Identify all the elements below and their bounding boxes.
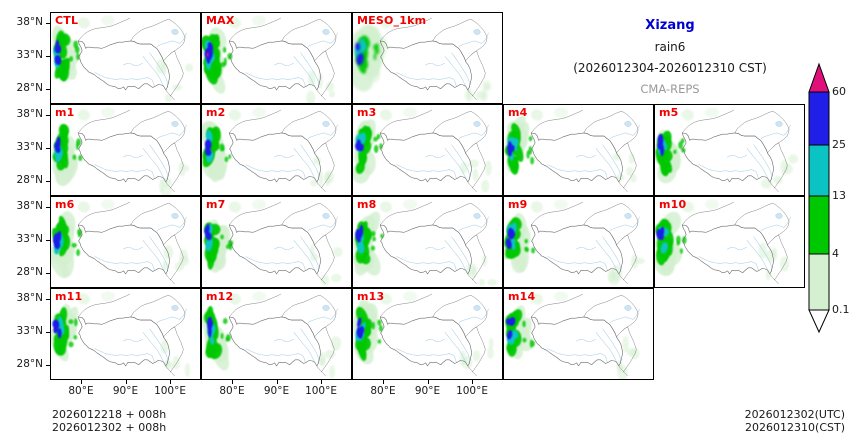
title-variable: rain6 [530, 40, 810, 54]
y-tick-label: 33°N [0, 325, 43, 337]
map-panel-m7[interactable]: m7 [201, 196, 352, 288]
x-tick-label: 100°E [291, 385, 351, 397]
y-tick-mark [46, 207, 50, 208]
map-panel-ctl[interactable]: CTL [50, 12, 201, 104]
panel-label-m11: m11 [55, 290, 82, 303]
map-panel-m12[interactable]: m12 [201, 288, 352, 380]
footer-right-line1: 2026012302(UTC) [600, 408, 845, 421]
y-tick-mark [46, 240, 50, 241]
map-panel-m14[interactable]: m14 [503, 288, 654, 380]
x-tick-label: 100°E [140, 385, 200, 397]
map-panel-m5[interactable]: m5 [654, 104, 805, 196]
footer-left-line1: 2026012218 + 008h [52, 408, 166, 421]
y-tick-label: 33°N [0, 49, 43, 61]
panel-label-m9: m9 [508, 198, 528, 211]
x-tick-mark [232, 380, 233, 384]
y-tick-mark [46, 365, 50, 366]
panel-label-m8: m8 [357, 198, 377, 211]
x-tick-mark [321, 380, 322, 384]
map-panel-max[interactable]: MAX [201, 12, 352, 104]
y-tick-label: 38°N [0, 108, 43, 120]
footer-left-line2: 2026012302 + 008h [52, 421, 166, 434]
y-tick-mark [46, 89, 50, 90]
colorbar-band-0.1-4 [809, 254, 829, 310]
figure-root: CTLMAXMESO_1kmm1m2m3m4m5m6m7m8m9m10m11m1… [0, 0, 860, 448]
colorbar-label-13: 13 [832, 189, 846, 202]
colorbar-band-13-25 [809, 145, 829, 196]
panel-label-m5: m5 [659, 106, 679, 119]
x-tick-mark [126, 380, 127, 384]
colorbar-band-below-0.1 [809, 310, 829, 332]
map-panel-m4[interactable]: m4 [503, 104, 654, 196]
x-tick-label: 100°E [442, 385, 502, 397]
y-tick-label: 38°N [0, 292, 43, 304]
title-period: (2026012304-2026012310 CST) [520, 61, 820, 75]
title-region: Xizang [530, 18, 810, 33]
map-panel-m8[interactable]: m8 [352, 196, 503, 288]
y-tick-mark [46, 299, 50, 300]
y-tick-label: 38°N [0, 16, 43, 28]
y-tick-label: 33°N [0, 233, 43, 245]
map-panel-m13[interactable]: m13 [352, 288, 503, 380]
colorbar-label-4: 4 [832, 247, 839, 260]
colorbar: 60 25 13 4 0.1 [806, 62, 836, 334]
map-panel-m10[interactable]: m10 [654, 196, 805, 288]
colorbar-label-0.1: 0.1 [832, 303, 850, 316]
panel-label-m10: m10 [659, 198, 686, 211]
colorbar-band-above-60 [809, 64, 829, 92]
y-tick-label: 28°N [0, 358, 43, 370]
y-tick-mark [46, 181, 50, 182]
map-panel-m9[interactable]: m9 [503, 196, 654, 288]
panel-label-m2: m2 [206, 106, 226, 119]
y-tick-label: 28°N [0, 82, 43, 94]
map-panel-meso_1km[interactable]: MESO_1km [352, 12, 503, 104]
x-tick-mark [383, 380, 384, 384]
title-source: CMA-REPS [530, 82, 810, 96]
x-tick-mark [428, 380, 429, 384]
y-tick-label: 38°N [0, 200, 43, 212]
panel-label-meso_1km: MESO_1km [357, 14, 426, 27]
colorbar-label-60: 60 [832, 85, 846, 98]
colorbar-band-4-13 [809, 196, 829, 254]
panel-label-m3: m3 [357, 106, 377, 119]
x-tick-mark [170, 380, 171, 384]
panel-label-m6: m6 [55, 198, 75, 211]
panel-label-max: MAX [206, 14, 235, 27]
colorbar-band-25-60 [809, 92, 829, 145]
y-tick-mark [46, 56, 50, 57]
map-panel-m6[interactable]: m6 [50, 196, 201, 288]
map-panel-m11[interactable]: m11 [50, 288, 201, 380]
panel-label-m13: m13 [357, 290, 384, 303]
y-tick-mark [46, 115, 50, 116]
panel-label-m7: m7 [206, 198, 226, 211]
map-panel-m1[interactable]: m1 [50, 104, 201, 196]
map-panel-m2[interactable]: m2 [201, 104, 352, 196]
map-panel-m3[interactable]: m3 [352, 104, 503, 196]
y-tick-label: 28°N [0, 266, 43, 278]
panel-label-m1: m1 [55, 106, 75, 119]
x-tick-mark [277, 380, 278, 384]
y-tick-mark [46, 148, 50, 149]
x-tick-mark [472, 380, 473, 384]
panel-label-m14: m14 [508, 290, 535, 303]
map-panel-empty [654, 288, 805, 380]
y-tick-label: 28°N [0, 174, 43, 186]
x-tick-mark [81, 380, 82, 384]
colorbar-label-25: 25 [832, 138, 846, 151]
y-tick-label: 33°N [0, 141, 43, 153]
panel-label-ctl: CTL [55, 14, 78, 27]
y-tick-mark [46, 332, 50, 333]
y-tick-mark [46, 23, 50, 24]
panel-label-m12: m12 [206, 290, 233, 303]
y-tick-mark [46, 273, 50, 274]
panel-label-m4: m4 [508, 106, 528, 119]
footer-right-line2: 2026012310(CST) [600, 421, 845, 434]
